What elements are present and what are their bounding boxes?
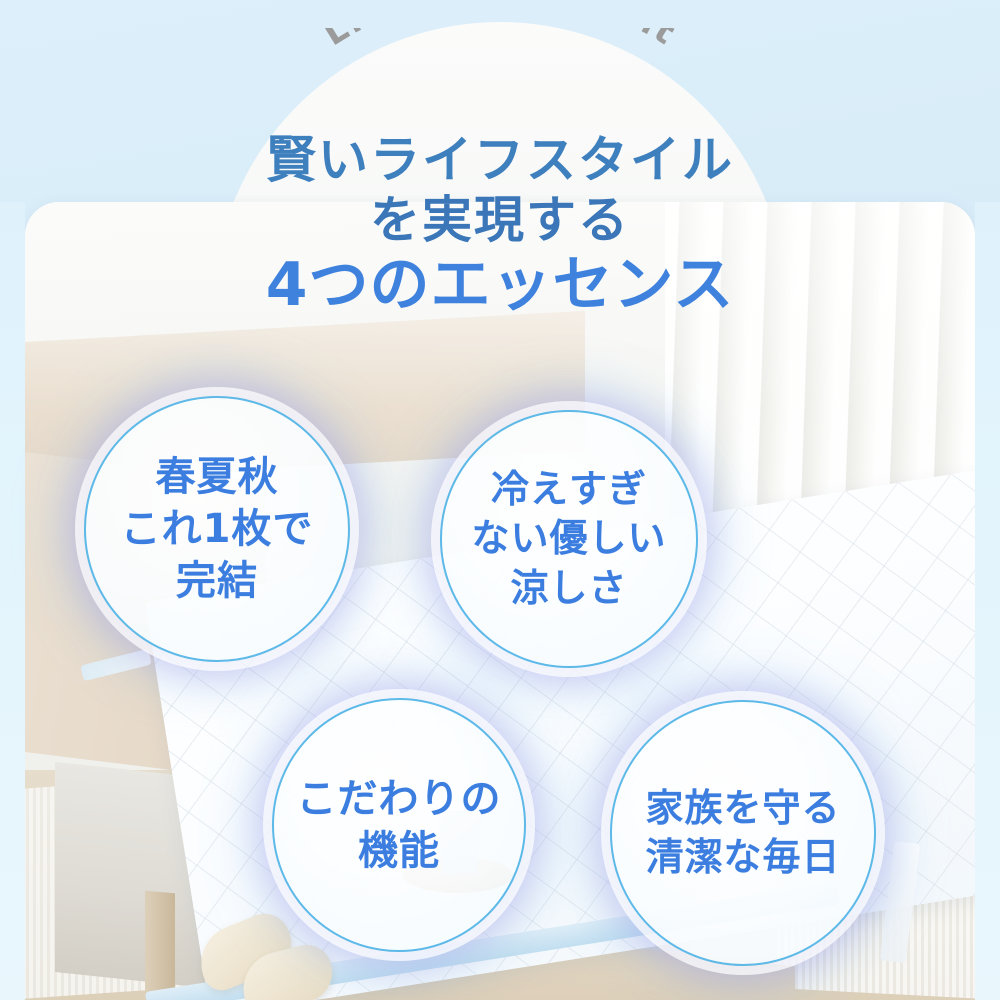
feature-line: 家族を守る — [645, 784, 840, 833]
feature-circle-clean-text: 家族を守る 清潔な毎日 — [645, 784, 840, 883]
frame-edge-left — [0, 202, 25, 1000]
feature-line: 冷えすぎ — [471, 465, 666, 514]
feature-line: 清潔な毎日 — [645, 833, 840, 882]
feature-line: 機能 — [297, 825, 502, 877]
frame-edge-right — [975, 202, 1000, 1000]
poster-root: Lifestyle 4 Point 賢いライフスタイル を実現する 4つのエッセ… — [0, 0, 1000, 1000]
feature-line: 涼しさ — [471, 564, 666, 613]
feature-line: こだわりの — [297, 773, 502, 825]
feature-line: 完結 — [121, 555, 314, 607]
feature-line: ない優しい — [471, 514, 666, 563]
feature-circle-cooling-text: 冷えすぎ ない優しい 涼しさ — [471, 465, 666, 613]
feature-circle-clean[interactable]: 家族を守る 清潔な毎日 — [610, 700, 876, 966]
feature-circle-function-text: こだわりの 機能 — [297, 773, 502, 877]
feature-circle-seasons-text: 春夏秋 これ1枚で 完結 — [121, 451, 314, 607]
feature-circle-function[interactable]: こだわりの 機能 — [272, 698, 526, 952]
feature-circle-seasons[interactable]: 春夏秋 これ1枚で 完結 — [84, 396, 350, 662]
feature-circle-cooling[interactable]: 冷えすぎ ない優しい 涼しさ — [440, 410, 698, 668]
feature-line: これ1枚で — [121, 503, 314, 555]
feature-line: 春夏秋 — [121, 451, 314, 503]
